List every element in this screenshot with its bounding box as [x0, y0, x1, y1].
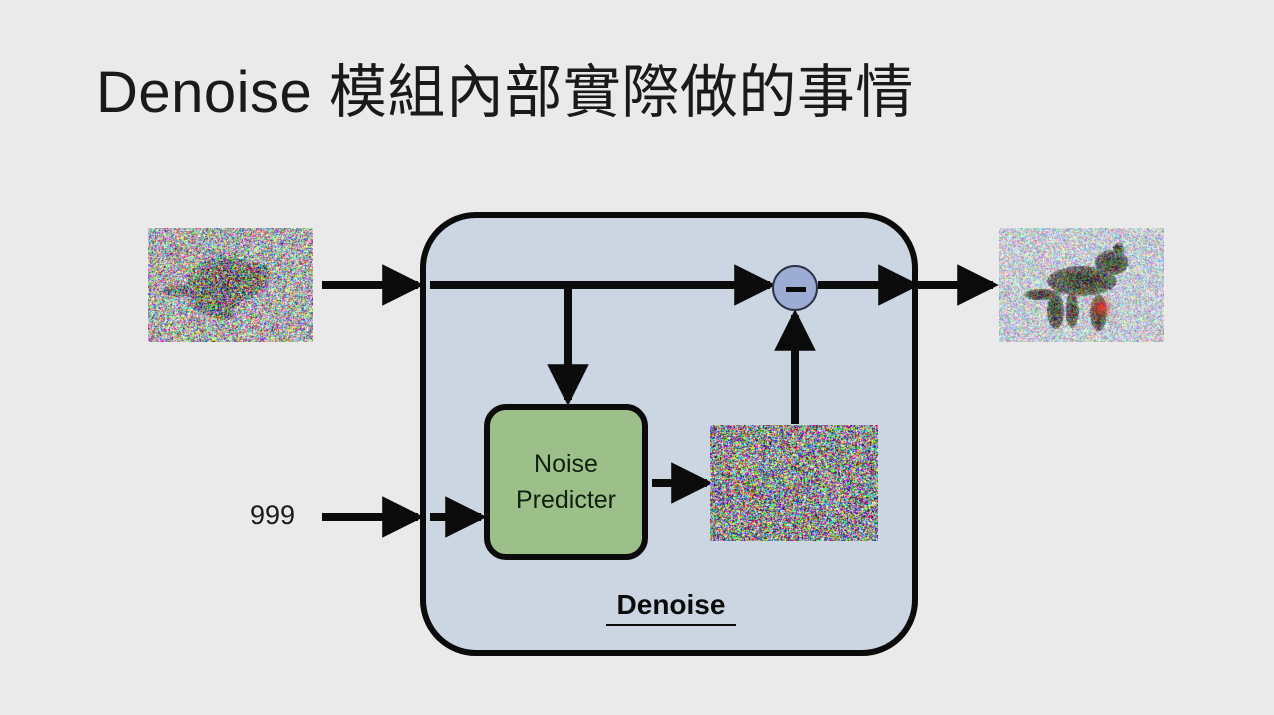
- minus-icon: [786, 287, 806, 292]
- predicted-noise-image: [710, 425, 878, 541]
- noise-predicter-label-line1: Noise: [534, 446, 598, 482]
- denoise-module-label: Denoise: [606, 589, 736, 626]
- noise-predicter-box: Noise Predicter: [484, 404, 648, 560]
- subtract-operator-node: [772, 265, 818, 311]
- page-title: Denoise 模組內部實際做的事情: [96, 60, 1196, 127]
- timestep-value: 999: [250, 500, 295, 531]
- slide-canvas: Denoise 模組內部實際做的事情 Noise Predicter: [0, 0, 1274, 715]
- denoised-output-image: [999, 228, 1164, 342]
- noise-predicter-label-line2: Predicter: [516, 482, 616, 518]
- noisy-input-image: [148, 228, 313, 342]
